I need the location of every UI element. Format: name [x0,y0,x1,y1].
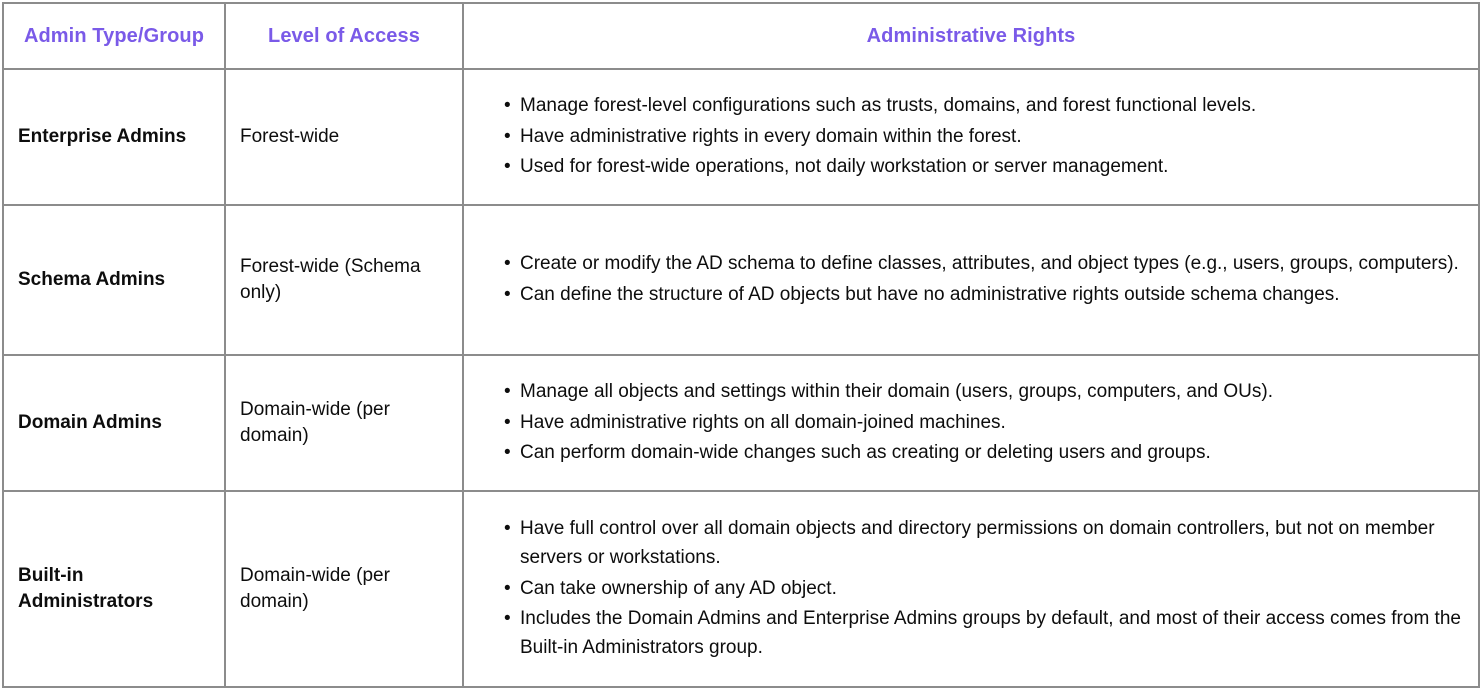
cell-administrative-rights: Have full control over all domain object… [463,491,1479,687]
cell-admin-type: Schema Admins [3,205,225,355]
cell-administrative-rights: Create or modify the AD schema to define… [463,205,1479,355]
administrative-rights-item: Manage forest-level configurations such … [504,92,1462,121]
admin-rights-table-container: Admin Type/Group Level of Access Adminis… [0,0,1480,616]
administrative-rights-list: Manage all objects and settings within t… [474,378,1462,469]
column-header-administrative-rights: Administrative Rights [463,3,1479,69]
administrative-rights-item: Create or modify the AD schema to define… [504,250,1462,279]
table-row: Schema AdminsForest-wide (Schema only)Cr… [3,205,1479,355]
cell-admin-type: Built-in Administrators [3,491,225,687]
administrative-rights-item: Can perform domain-wide changes such as … [504,439,1462,468]
cell-level-of-access: Forest-wide (Schema only) [225,205,463,355]
cell-administrative-rights: Manage all objects and settings within t… [463,355,1479,491]
column-header-level-of-access: Level of Access [225,3,463,69]
administrative-rights-item: Can take ownership of any AD object. [504,575,1462,604]
table-row: Enterprise AdminsForest-wideManage fores… [3,69,1479,205]
cell-admin-type: Domain Admins [3,355,225,491]
table-header-row: Admin Type/Group Level of Access Adminis… [3,3,1479,69]
administrative-rights-item: Can define the structure of AD objects b… [504,281,1462,310]
cell-level-of-access: Domain-wide (per domain) [225,355,463,491]
table-header: Admin Type/Group Level of Access Adminis… [3,3,1479,69]
administrative-rights-list: Have full control over all domain object… [474,515,1462,663]
administrative-rights-item: Have administrative rights on all domain… [504,409,1462,438]
administrative-rights-item: Used for forest-wide operations, not dai… [504,153,1462,182]
cell-level-of-access: Forest-wide [225,69,463,205]
administrative-rights-list: Manage forest-level configurations such … [474,92,1462,183]
administrative-rights-item: Manage all objects and settings within t… [504,378,1462,407]
administrative-rights-item: Have administrative rights in every doma… [504,123,1462,152]
cell-admin-type: Enterprise Admins [3,69,225,205]
table-body: Enterprise AdminsForest-wideManage fores… [3,69,1479,687]
column-header-admin-type: Admin Type/Group [3,3,225,69]
admin-rights-table: Admin Type/Group Level of Access Adminis… [2,2,1480,688]
cell-level-of-access: Domain-wide (per domain) [225,491,463,687]
administrative-rights-item: Have full control over all domain object… [504,515,1462,573]
administrative-rights-item: Includes the Domain Admins and Enterpris… [504,605,1462,663]
administrative-rights-list: Create or modify the AD schema to define… [474,250,1462,310]
table-row: Built-in AdministratorsDomain-wide (per … [3,491,1479,687]
table-row: Domain AdminsDomain-wide (per domain)Man… [3,355,1479,491]
cell-administrative-rights: Manage forest-level configurations such … [463,69,1479,205]
